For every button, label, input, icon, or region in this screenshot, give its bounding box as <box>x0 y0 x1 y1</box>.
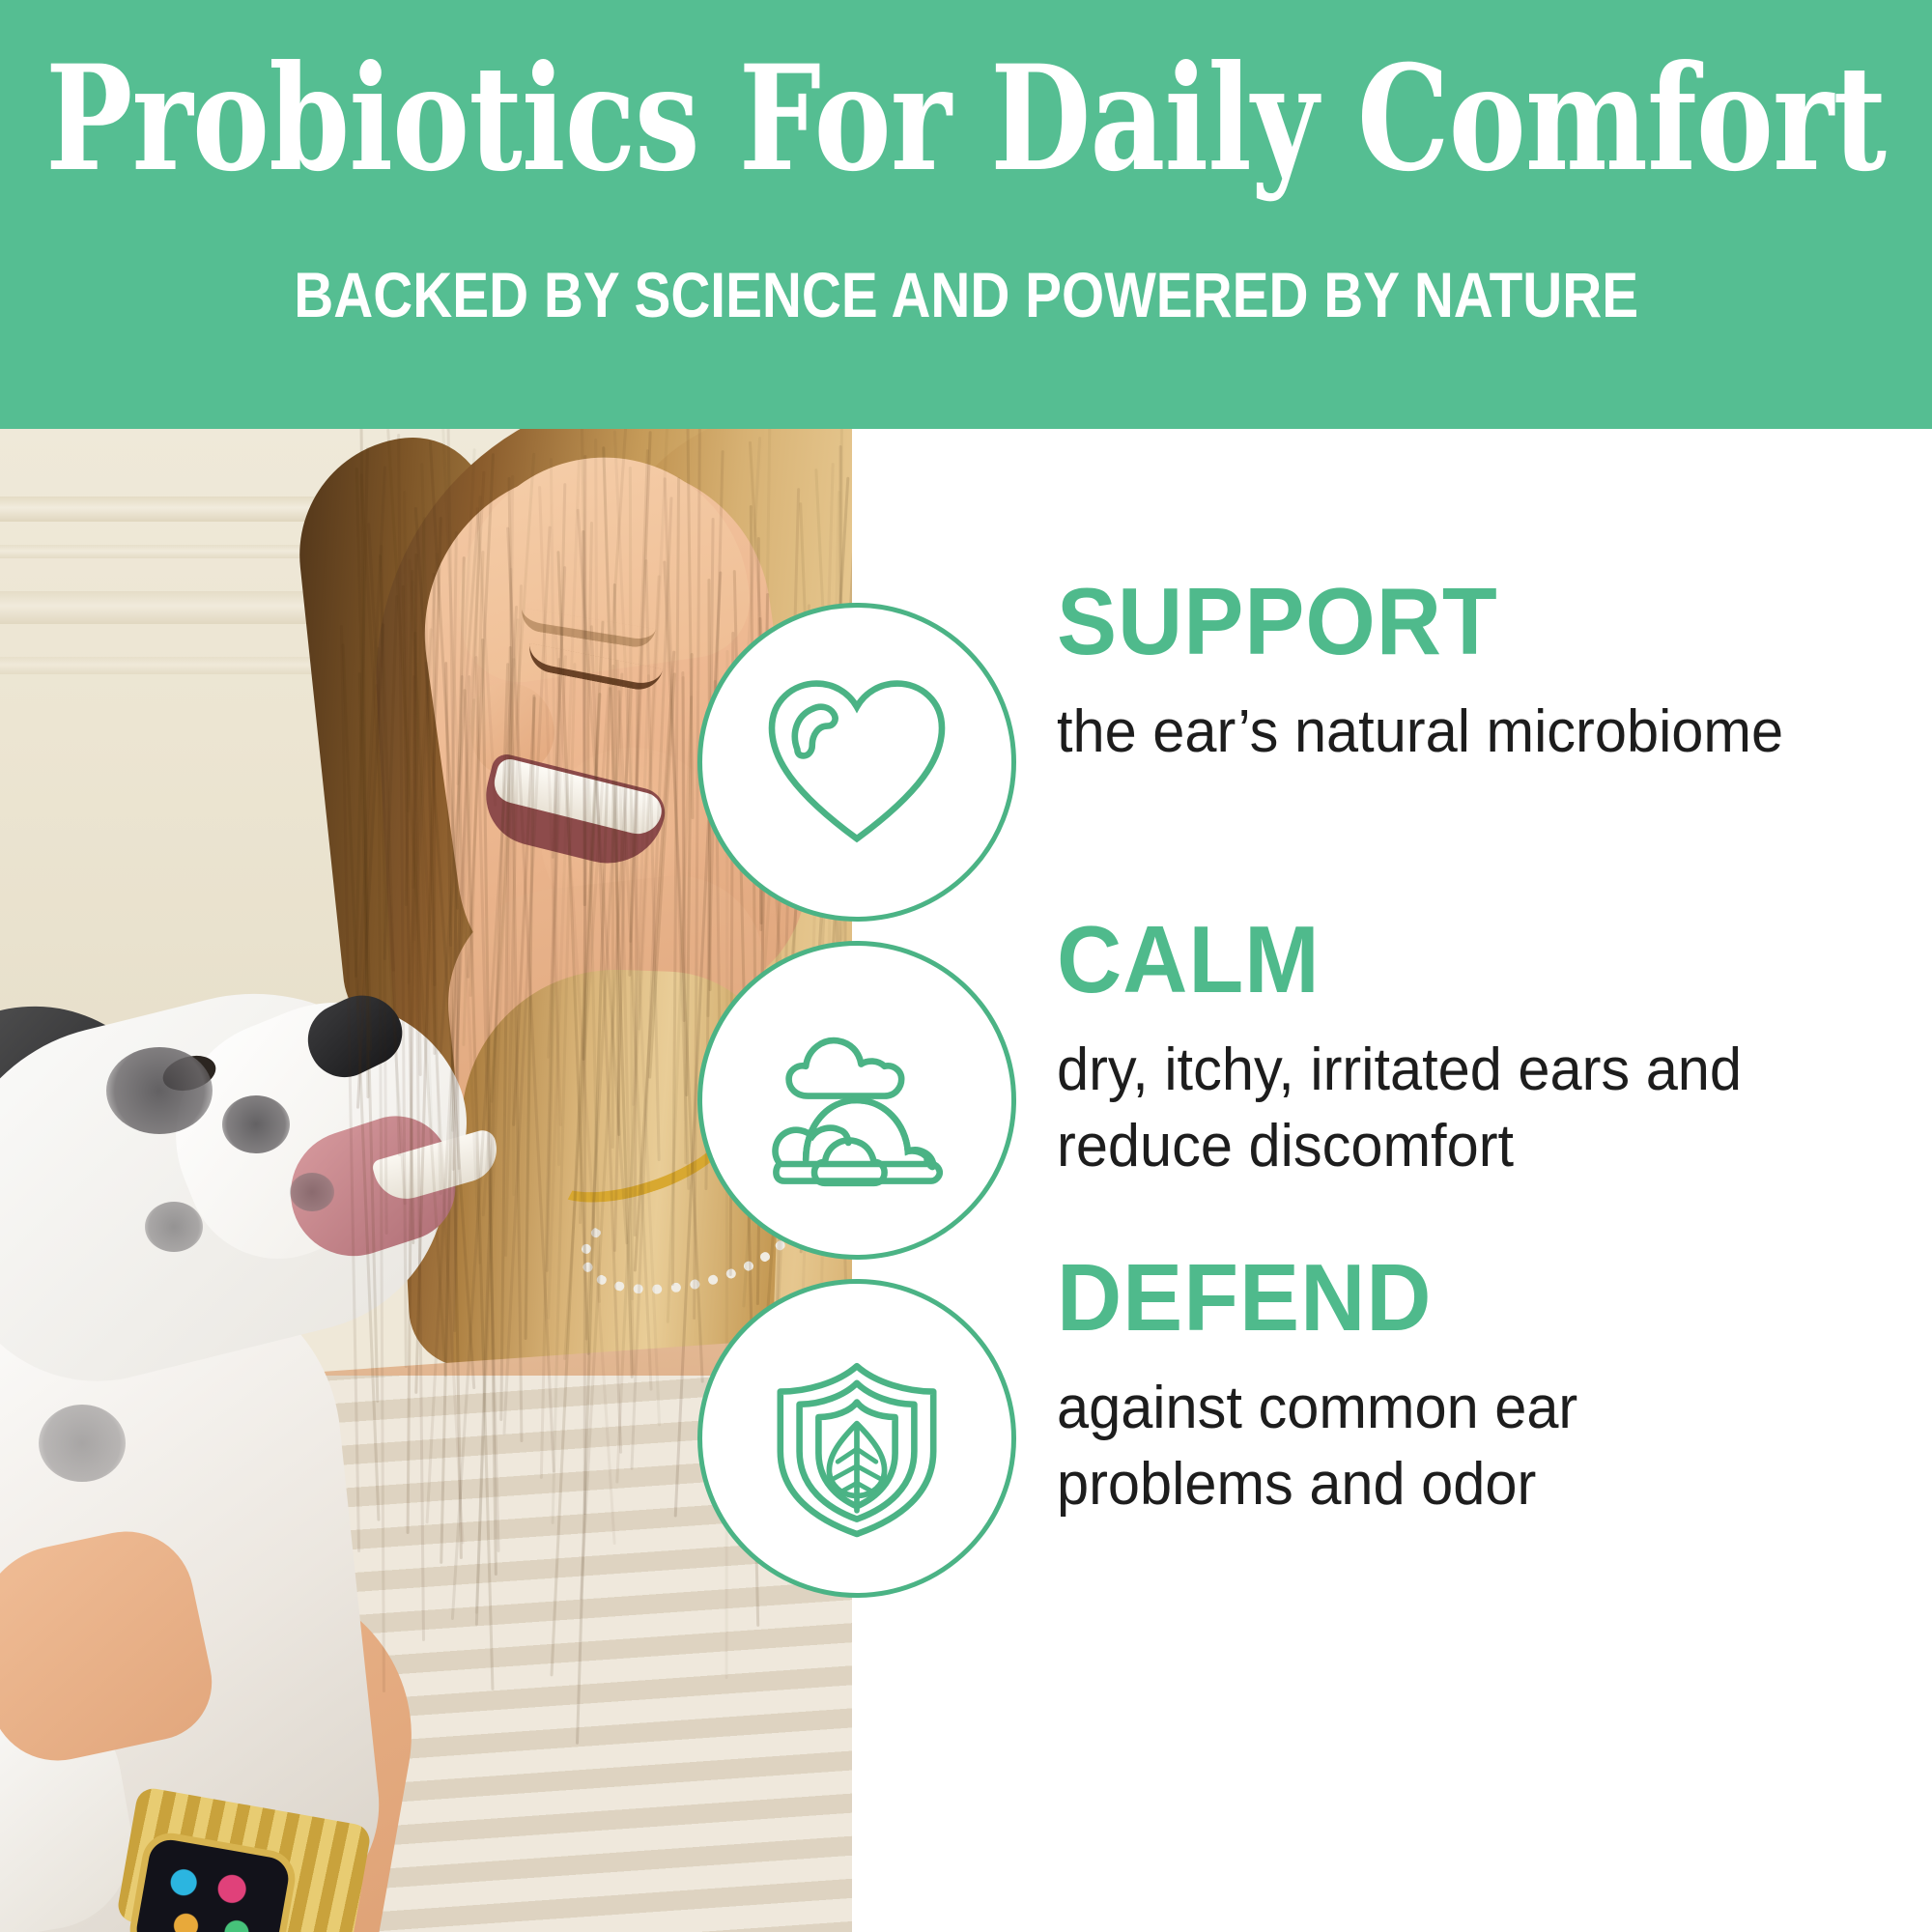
header-banner: Probiotics For Daily Comfort BACKED BY S… <box>0 0 1932 429</box>
dog-spot <box>39 1405 126 1482</box>
feature-text: SUPPORT the ear’s natural microbiome <box>1057 574 1907 770</box>
features-panel: SUPPORT the ear’s natural microbiome CAL… <box>852 429 1932 1932</box>
feature-text: CALM dry, itchy, irritated ears and redu… <box>1057 912 1907 1185</box>
feature-body: dry, itchy, irritated ears and reduce di… <box>1057 1032 1817 1185</box>
dog-spot <box>106 1047 213 1134</box>
feature-row: SUPPORT the ear’s natural microbiome <box>852 574 1932 960</box>
shield-leaf-icon <box>751 1332 963 1545</box>
clouds-icon <box>751 994 963 1207</box>
feature-heading: SUPPORT <box>1057 574 1864 668</box>
page-title: Probiotics For Daily Comfort <box>45 46 1886 191</box>
feature-heading: DEFEND <box>1057 1250 1864 1345</box>
page-subtitle: BACKED BY SCIENCE AND POWERED BY NATURE <box>294 263 1638 327</box>
heart-icon <box>751 656 963 868</box>
feature-text: DEFEND against common ear problems and o… <box>1057 1250 1907 1523</box>
dog-spot <box>222 1095 290 1153</box>
watch-face-display <box>145 1848 282 1932</box>
feature-row: CALM dry, itchy, irritated ears and redu… <box>852 912 1932 1298</box>
feature-icon-circle <box>697 941 1016 1260</box>
feature-body: the ear’s natural microbiome <box>1057 694 1817 770</box>
feature-icon-circle <box>697 603 1016 922</box>
dog-spot <box>290 1173 334 1211</box>
dog-spot <box>145 1202 203 1252</box>
feature-row: DEFEND against common ear problems and o… <box>852 1250 1932 1636</box>
feature-body: against common ear problems and odor <box>1057 1370 1817 1523</box>
feature-icon-circle <box>697 1279 1016 1598</box>
feature-heading: CALM <box>1057 912 1864 1007</box>
